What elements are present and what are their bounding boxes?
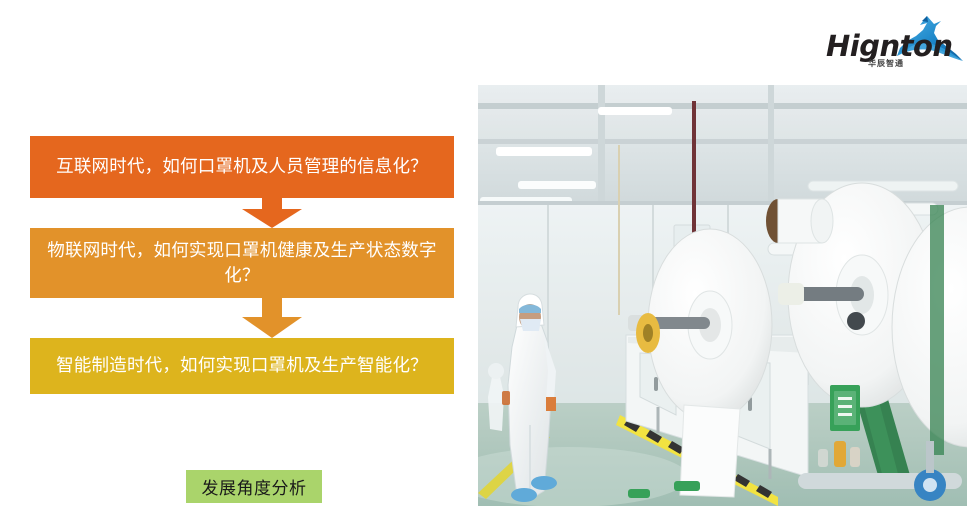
flow-step-internet-era[interactable]: 互联网时代，如何口罩机及人员管理的信息化？ bbox=[30, 136, 454, 198]
flow-step-smart-manufacturing-era[interactable]: 智能制造时代，如何实现口罩机及生产智能化？ bbox=[30, 338, 454, 394]
flow-step-3-label: 智能制造时代，如何实现口罩机及生产智能化？ bbox=[56, 353, 428, 378]
arrow-down-icon-2 bbox=[242, 298, 302, 338]
arrow-shaft bbox=[262, 298, 282, 318]
logo-chinese-name: 华辰智通 bbox=[868, 60, 904, 68]
arrow-down-icon-1 bbox=[242, 198, 302, 228]
company-logo: Hignton 华辰智通 bbox=[826, 12, 966, 74]
factory-photo bbox=[478, 85, 967, 506]
logo-wordmark: Hignton bbox=[826, 32, 953, 61]
flow-step-1-label: 互联网时代，如何口罩机及人员管理的信息化？ bbox=[56, 154, 428, 179]
flow-step-2-label: 物联网时代，如何实现口罩机健康及生产状态数字化？ bbox=[44, 238, 440, 289]
caption-label: 发展角度分析 bbox=[202, 474, 307, 499]
flow-step-iot-era[interactable]: 物联网时代，如何实现口罩机健康及生产状态数字化？ bbox=[30, 228, 454, 298]
arrow-head bbox=[242, 317, 302, 338]
arrow-head bbox=[242, 209, 302, 228]
caption-chip[interactable]: 发展角度分析 bbox=[186, 470, 322, 503]
